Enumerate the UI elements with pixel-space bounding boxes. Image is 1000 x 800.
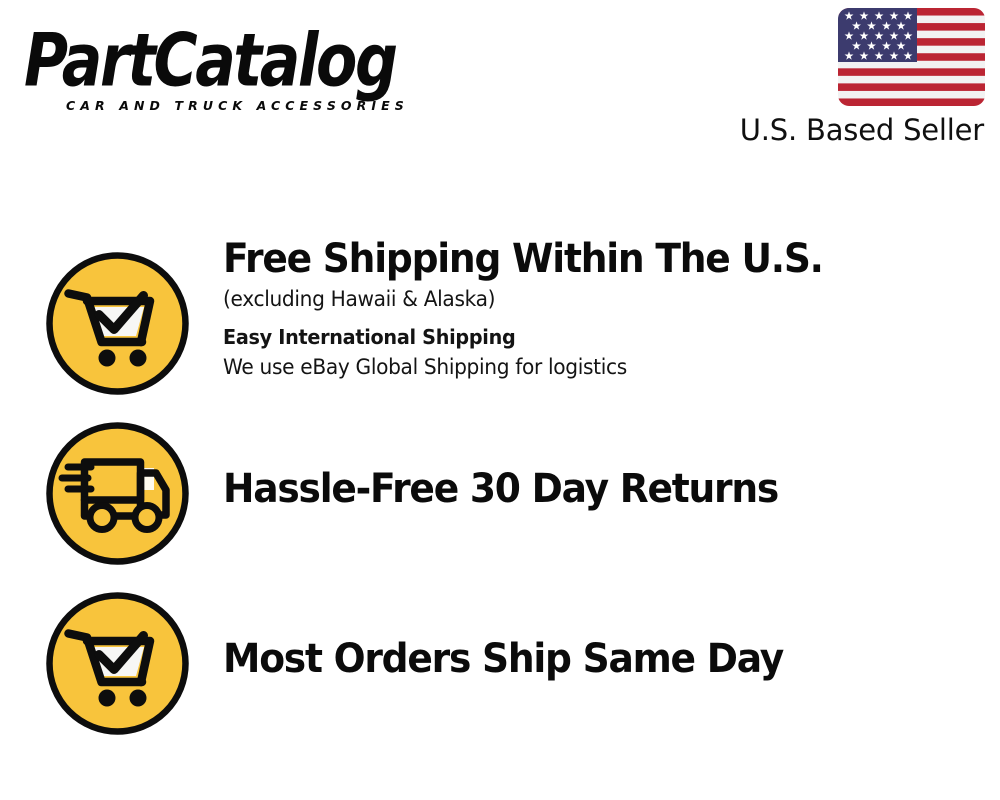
feature-heading: Free Shipping Within The U.S. [223,236,937,282]
shopping-cart-check-icon [44,590,191,737]
brand-name: PartCatalog [24,22,480,100]
delivery-truck-icon [44,420,191,567]
feature-sub-bold: Easy International Shipping [223,322,953,352]
feature-heading: Most Orders Ship Same Day [223,636,937,682]
us-based-seller-label: U.S. Based Seller [740,112,984,148]
feature-sub-detail: We use eBay Global Shipping for logistic… [223,352,953,382]
feature-text-block: Free Shipping Within The U.S. (excluding… [223,236,983,382]
us-flag-icon [838,8,985,106]
feature-text-block: Most Orders Ship Same Day [223,636,983,682]
brand-logo: PartCatalog CAR AND TRUCK ACCESSORIES [24,22,494,113]
shopping-cart-check-icon [44,250,191,397]
us-flag-graphic [838,8,985,106]
promo-banner: PartCatalog CAR AND TRUCK ACCESSORIES [0,0,1000,800]
feature-text-block: Hassle-Free 30 Day Returns [223,466,983,512]
feature-sub-note: (excluding Hawaii & Alaska) [223,284,953,314]
feature-heading: Hassle-Free 30 Day Returns [223,466,937,512]
